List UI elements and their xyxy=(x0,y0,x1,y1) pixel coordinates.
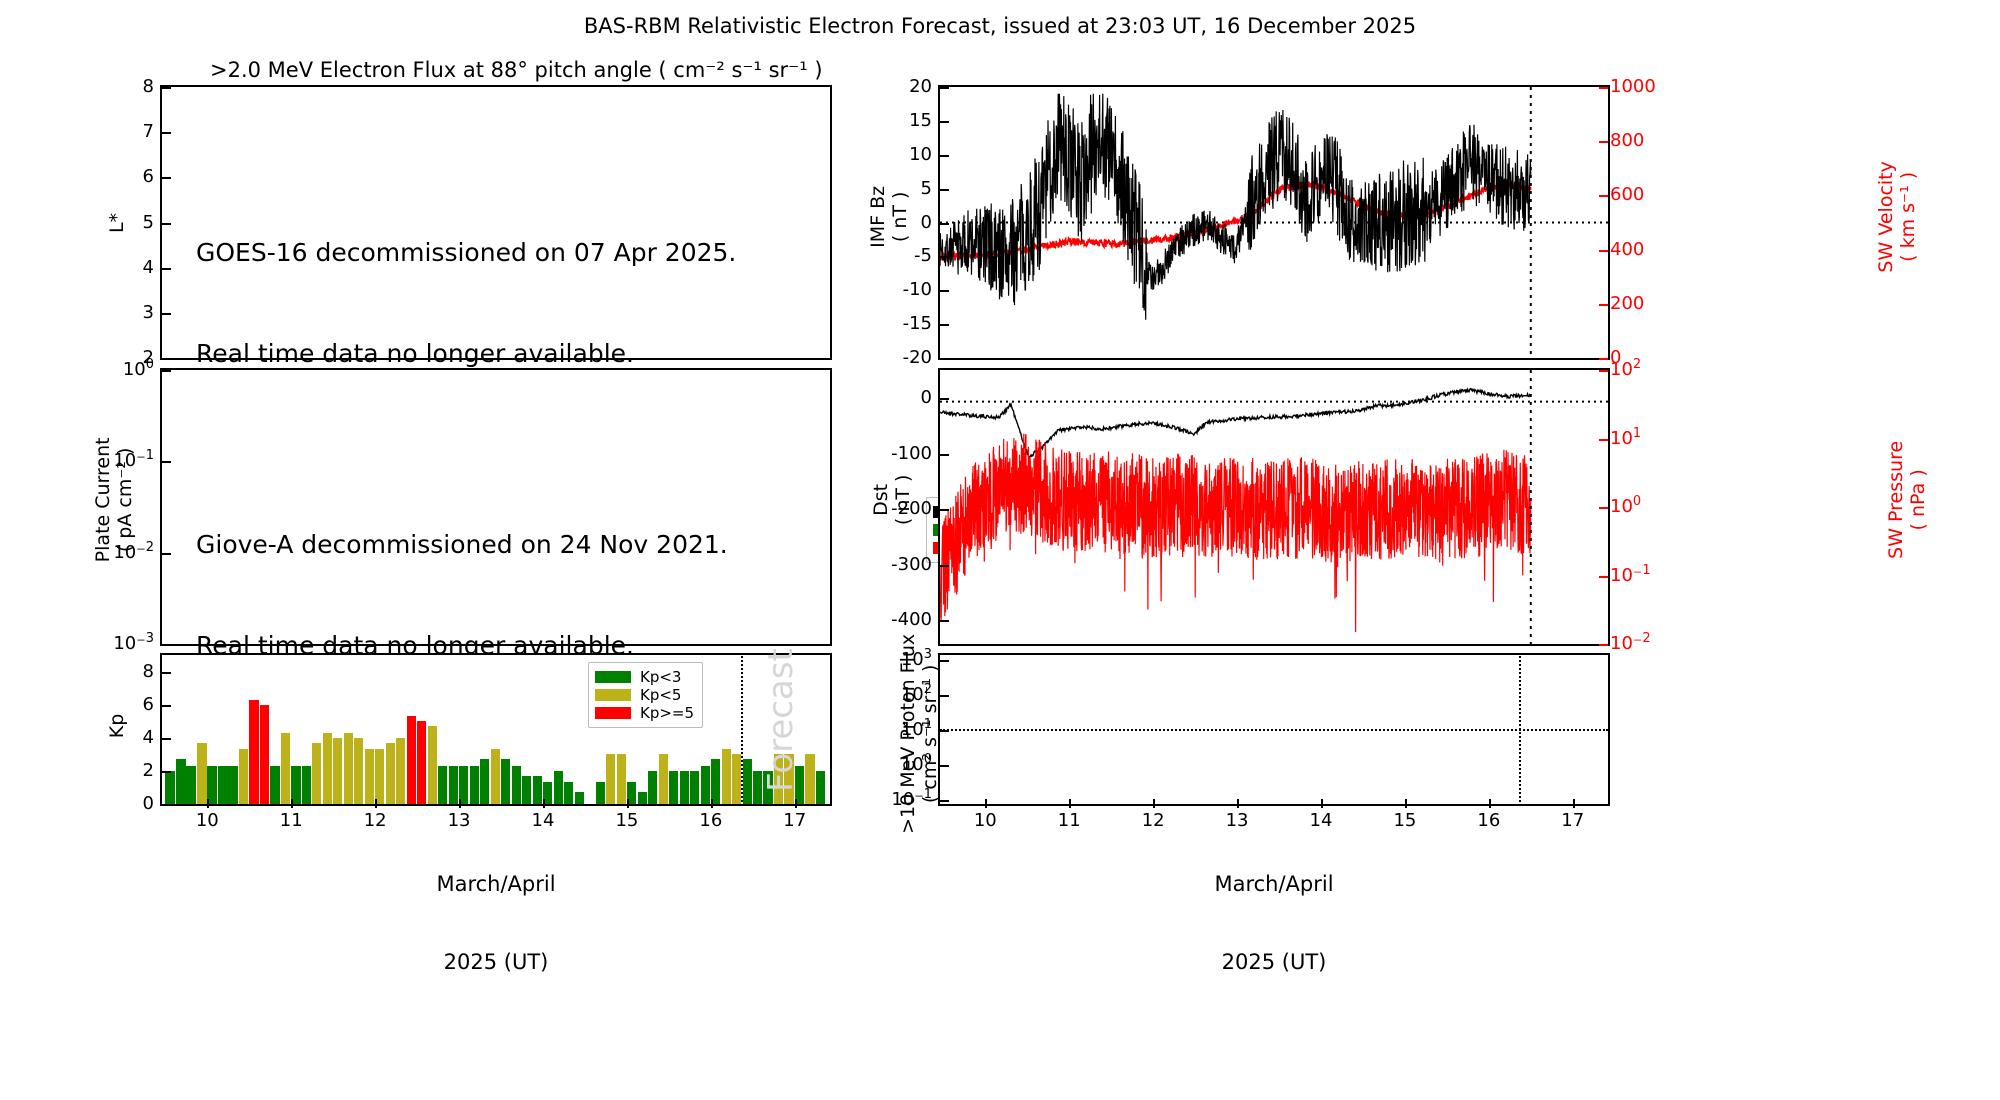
ytick-mark xyxy=(940,189,949,191)
ytick-label: 10⁻1 xyxy=(90,450,154,471)
xtick-mark xyxy=(207,799,209,808)
ytick-mark xyxy=(1599,141,1608,143)
kp-bar xyxy=(501,759,510,804)
ytick-label: 8 xyxy=(90,76,154,97)
proton-xaxis-label: March/April 2025 (UT) xyxy=(1174,818,1374,1002)
kp-bar xyxy=(218,766,227,804)
ytick-label: 8 xyxy=(90,661,154,682)
ytick-mark xyxy=(940,256,949,258)
ytick-mark xyxy=(162,177,171,179)
kp-bar xyxy=(596,782,605,804)
legend-label: Kp<3 xyxy=(640,668,681,686)
ytick-mark xyxy=(940,290,949,292)
kp-legend[interactable]: Kp<3Kp<5Kp>=5 xyxy=(588,662,703,728)
kp-bar-series xyxy=(162,655,830,804)
sw-velocity-axis-label: SW Velocity ( km s⁻¹ ) xyxy=(1876,127,1920,307)
legend-label: Kp<5 xyxy=(640,686,681,704)
imf-bz-plot xyxy=(940,87,1608,358)
ytick-mark xyxy=(1599,250,1608,252)
ytick-label: 200 xyxy=(1610,293,1644,314)
xtick-label: 17 xyxy=(1559,810,1587,831)
ytick-label: 400 xyxy=(1610,239,1644,260)
ytick-label: 15 xyxy=(868,110,932,131)
xtick-mark xyxy=(543,799,545,808)
kp-bar xyxy=(638,792,647,804)
ytick-label: -200 xyxy=(868,498,932,519)
ytick-label: 6 xyxy=(90,694,154,715)
ytick-mark xyxy=(162,358,171,360)
proton-xaxis-line1: March/April xyxy=(1174,871,1374,897)
xtick-mark xyxy=(711,799,713,808)
ytick-mark xyxy=(940,765,949,767)
imf-bz-panel xyxy=(938,85,1610,360)
ytick-mark xyxy=(940,324,949,326)
ytick-mark xyxy=(162,553,171,555)
ytick-mark xyxy=(162,771,171,773)
dst-panel xyxy=(938,368,1610,646)
xtick-mark xyxy=(1489,799,1491,808)
ytick-label: -10 xyxy=(868,279,932,300)
xtick-label: 10 xyxy=(193,810,221,831)
kp-bar xyxy=(816,771,825,804)
ytick-label: 102 xyxy=(868,684,932,705)
xtick-label: 12 xyxy=(361,810,389,831)
kp-xaxis-line1: March/April xyxy=(396,871,596,897)
kp-bar xyxy=(805,754,814,804)
ytick-mark xyxy=(940,398,949,400)
proton-xaxis-line2: 2025 (UT) xyxy=(1174,949,1374,975)
kp-bar xyxy=(344,733,353,804)
kp-bar xyxy=(354,738,363,804)
ytick-label: 10⁻1 xyxy=(868,789,932,810)
ytick-label: 5 xyxy=(868,178,932,199)
kp-bar xyxy=(228,766,237,804)
ytick-label: 7 xyxy=(90,121,154,142)
ytick-mark xyxy=(162,672,171,674)
ytick-label: 20 xyxy=(868,76,932,97)
kp-bar xyxy=(312,743,321,804)
kp-bar xyxy=(270,766,279,804)
ytick-mark xyxy=(940,358,949,360)
ytick-label: 101 xyxy=(1610,428,1641,449)
lstar-message-line2: Real time data no longer available. xyxy=(196,337,736,371)
kp-bar xyxy=(743,759,752,804)
ytick-mark xyxy=(1599,358,1608,360)
xtick-mark xyxy=(291,799,293,808)
ytick-mark xyxy=(1599,195,1608,197)
ytick-label: 4 xyxy=(90,727,154,748)
kp-bar xyxy=(333,738,342,804)
sw-pressure-axis-label: SW Pressure ( nPa ) xyxy=(1886,410,1930,590)
ytick-label: 4 xyxy=(90,257,154,278)
xtick-mark xyxy=(795,799,797,808)
ytick-label: 10⁻2 xyxy=(90,542,154,563)
kp-bar xyxy=(491,749,500,804)
kp-bar xyxy=(648,771,657,804)
sw-pressure-axis-line2: ( nPa ) xyxy=(1908,410,1930,590)
kp-bar xyxy=(606,754,615,804)
kp-bar xyxy=(554,771,563,804)
kp-xaxis-label: March/April 2025 (UT) xyxy=(396,818,596,1002)
ytick-label: 100 xyxy=(1610,496,1641,517)
xtick-mark xyxy=(1237,799,1239,808)
ytick-mark xyxy=(1599,370,1608,372)
ytick-label: 101 xyxy=(868,719,932,740)
ytick-mark xyxy=(940,223,949,225)
ytick-mark xyxy=(940,155,949,157)
xtick-mark xyxy=(627,799,629,808)
ytick-label: 10⁻2 xyxy=(1610,633,1651,654)
kp-bar xyxy=(512,766,521,804)
kp-bar xyxy=(732,754,741,804)
ytick-mark xyxy=(940,800,949,802)
kp-panel xyxy=(160,653,832,806)
ytick-mark xyxy=(162,87,171,89)
kp-xaxis-line2: 2025 (UT) xyxy=(396,949,596,975)
kp-bar xyxy=(680,771,689,804)
kp-bar xyxy=(417,721,426,804)
xtick-mark xyxy=(985,799,987,808)
ytick-mark xyxy=(162,644,171,646)
ytick-mark xyxy=(162,804,171,806)
ytick-label: 102 xyxy=(1610,359,1641,380)
ytick-label: 0 xyxy=(868,387,932,408)
page-title: BAS-RBM Relativistic Electron Forecast, … xyxy=(0,14,2000,38)
plate-current-message-line1: Giove-A decommissioned on 24 Nov 2021. xyxy=(196,528,728,562)
ytick-mark xyxy=(1599,87,1608,89)
ytick-mark xyxy=(940,695,949,697)
ytick-mark xyxy=(162,705,171,707)
legend-swatch xyxy=(595,671,631,683)
kp-bar xyxy=(575,792,584,804)
kp-bar xyxy=(659,754,668,804)
ytick-label: -100 xyxy=(868,443,932,464)
ytick-mark xyxy=(940,454,949,456)
kp-bar xyxy=(186,766,195,804)
kp-bar xyxy=(722,749,731,804)
proton-threshold-line xyxy=(940,729,1608,731)
ytick-mark xyxy=(940,660,949,662)
kp-forecast-watermark: Forecast xyxy=(761,662,801,792)
kp-bar xyxy=(165,771,174,804)
ytick-label: -20 xyxy=(868,347,932,368)
sw-pressure-axis-line1: SW Pressure xyxy=(1886,410,1908,590)
ytick-mark xyxy=(162,461,171,463)
ytick-label: 6 xyxy=(90,166,154,187)
ytick-label: 2 xyxy=(90,760,154,781)
ytick-mark xyxy=(940,121,949,123)
kp-bar xyxy=(249,700,258,804)
ytick-mark xyxy=(1599,576,1608,578)
xtick-label: 11 xyxy=(1055,810,1083,831)
xtick-mark xyxy=(1321,799,1323,808)
ytick-label: 600 xyxy=(1610,184,1644,205)
legend-item[interactable]: Kp<3 xyxy=(595,668,694,686)
kp-bar xyxy=(449,766,458,804)
ytick-label: 103 xyxy=(868,649,932,670)
kp-bar xyxy=(428,726,437,804)
xtick-label: 16 xyxy=(1475,810,1503,831)
kp-bar xyxy=(407,716,416,804)
xtick-mark xyxy=(1069,799,1071,808)
kp-bar xyxy=(197,743,206,804)
xtick-mark xyxy=(1153,799,1155,808)
legend-label: Kp>=5 xyxy=(640,704,694,722)
xtick-label: 17 xyxy=(781,810,809,831)
kp-bar xyxy=(396,738,405,804)
kp-forecast-divider xyxy=(741,653,743,806)
kp-bar xyxy=(522,776,531,804)
sw-velocity-axis-line2: ( km s⁻¹ ) xyxy=(1898,127,1920,307)
electron-flux-subtitle: >2.0 MeV Electron Flux at 88° pitch angl… xyxy=(210,58,823,82)
ytick-mark xyxy=(162,268,171,270)
ytick-mark xyxy=(1599,439,1608,441)
ytick-label: 100 xyxy=(868,754,932,775)
kp-bar xyxy=(480,759,489,804)
kp-bar xyxy=(281,733,290,804)
legend-swatch xyxy=(595,689,631,701)
data-trace xyxy=(940,434,1531,632)
lstar-message-line1: GOES-16 decommissioned on 07 Apr 2025. xyxy=(196,236,736,270)
kp-bar xyxy=(323,733,332,804)
kp-bar xyxy=(386,743,395,804)
ytick-label: 10⁻3 xyxy=(90,633,154,654)
ytick-mark xyxy=(940,565,949,567)
ytick-label: 0 xyxy=(868,212,932,233)
kp-bar xyxy=(690,771,699,804)
legend-item[interactable]: Kp<5 xyxy=(595,686,694,704)
ytick-mark xyxy=(162,370,171,372)
legend-swatch xyxy=(595,707,631,719)
kp-bar xyxy=(176,759,185,804)
legend-item[interactable]: Kp>=5 xyxy=(595,704,694,722)
xtick-label: 15 xyxy=(1391,810,1419,831)
kp-bar xyxy=(239,749,248,804)
xtick-mark xyxy=(375,799,377,808)
ytick-mark xyxy=(1599,304,1608,306)
xtick-mark xyxy=(1573,799,1575,808)
ytick-label: 3 xyxy=(90,302,154,323)
kp-bar xyxy=(564,782,573,804)
ytick-mark xyxy=(940,87,949,89)
kp-bar xyxy=(701,766,710,804)
ytick-mark xyxy=(162,738,171,740)
kp-bar xyxy=(365,749,374,804)
ytick-mark xyxy=(162,132,171,134)
ytick-mark xyxy=(162,223,171,225)
ytick-mark xyxy=(940,509,949,511)
xtick-label: 16 xyxy=(697,810,725,831)
xtick-label: 15 xyxy=(613,810,641,831)
ytick-label: 0 xyxy=(90,793,154,814)
ytick-label: -15 xyxy=(868,313,932,334)
kp-bar xyxy=(617,754,626,804)
kp-bar xyxy=(711,759,720,804)
xtick-label: 12 xyxy=(1139,810,1167,831)
xtick-mark xyxy=(459,799,461,808)
xtick-label: 11 xyxy=(277,810,305,831)
kp-bar xyxy=(438,766,447,804)
ytick-mark xyxy=(162,313,171,315)
ytick-mark xyxy=(1599,644,1608,646)
kp-bar xyxy=(302,766,311,804)
kp-bar xyxy=(375,749,384,804)
kp-bar xyxy=(470,766,479,804)
ytick-label: 5 xyxy=(90,212,154,233)
kp-bar xyxy=(533,776,542,804)
ytick-label: 10 xyxy=(868,144,932,165)
ytick-label: -300 xyxy=(868,554,932,575)
ytick-label: 100 xyxy=(90,359,154,380)
ytick-mark xyxy=(1599,507,1608,509)
dst-plot xyxy=(940,370,1608,644)
xtick-label: 10 xyxy=(971,810,999,831)
ytick-label: -5 xyxy=(868,245,932,266)
ytick-label: 800 xyxy=(1610,130,1644,151)
xtick-mark xyxy=(1405,799,1407,808)
sw-velocity-axis-line1: SW Velocity xyxy=(1876,127,1898,307)
ytick-label: 10⁻1 xyxy=(1610,565,1651,586)
kp-bar xyxy=(260,705,269,804)
ytick-label: 1000 xyxy=(1610,76,1656,97)
kp-bar xyxy=(669,771,678,804)
